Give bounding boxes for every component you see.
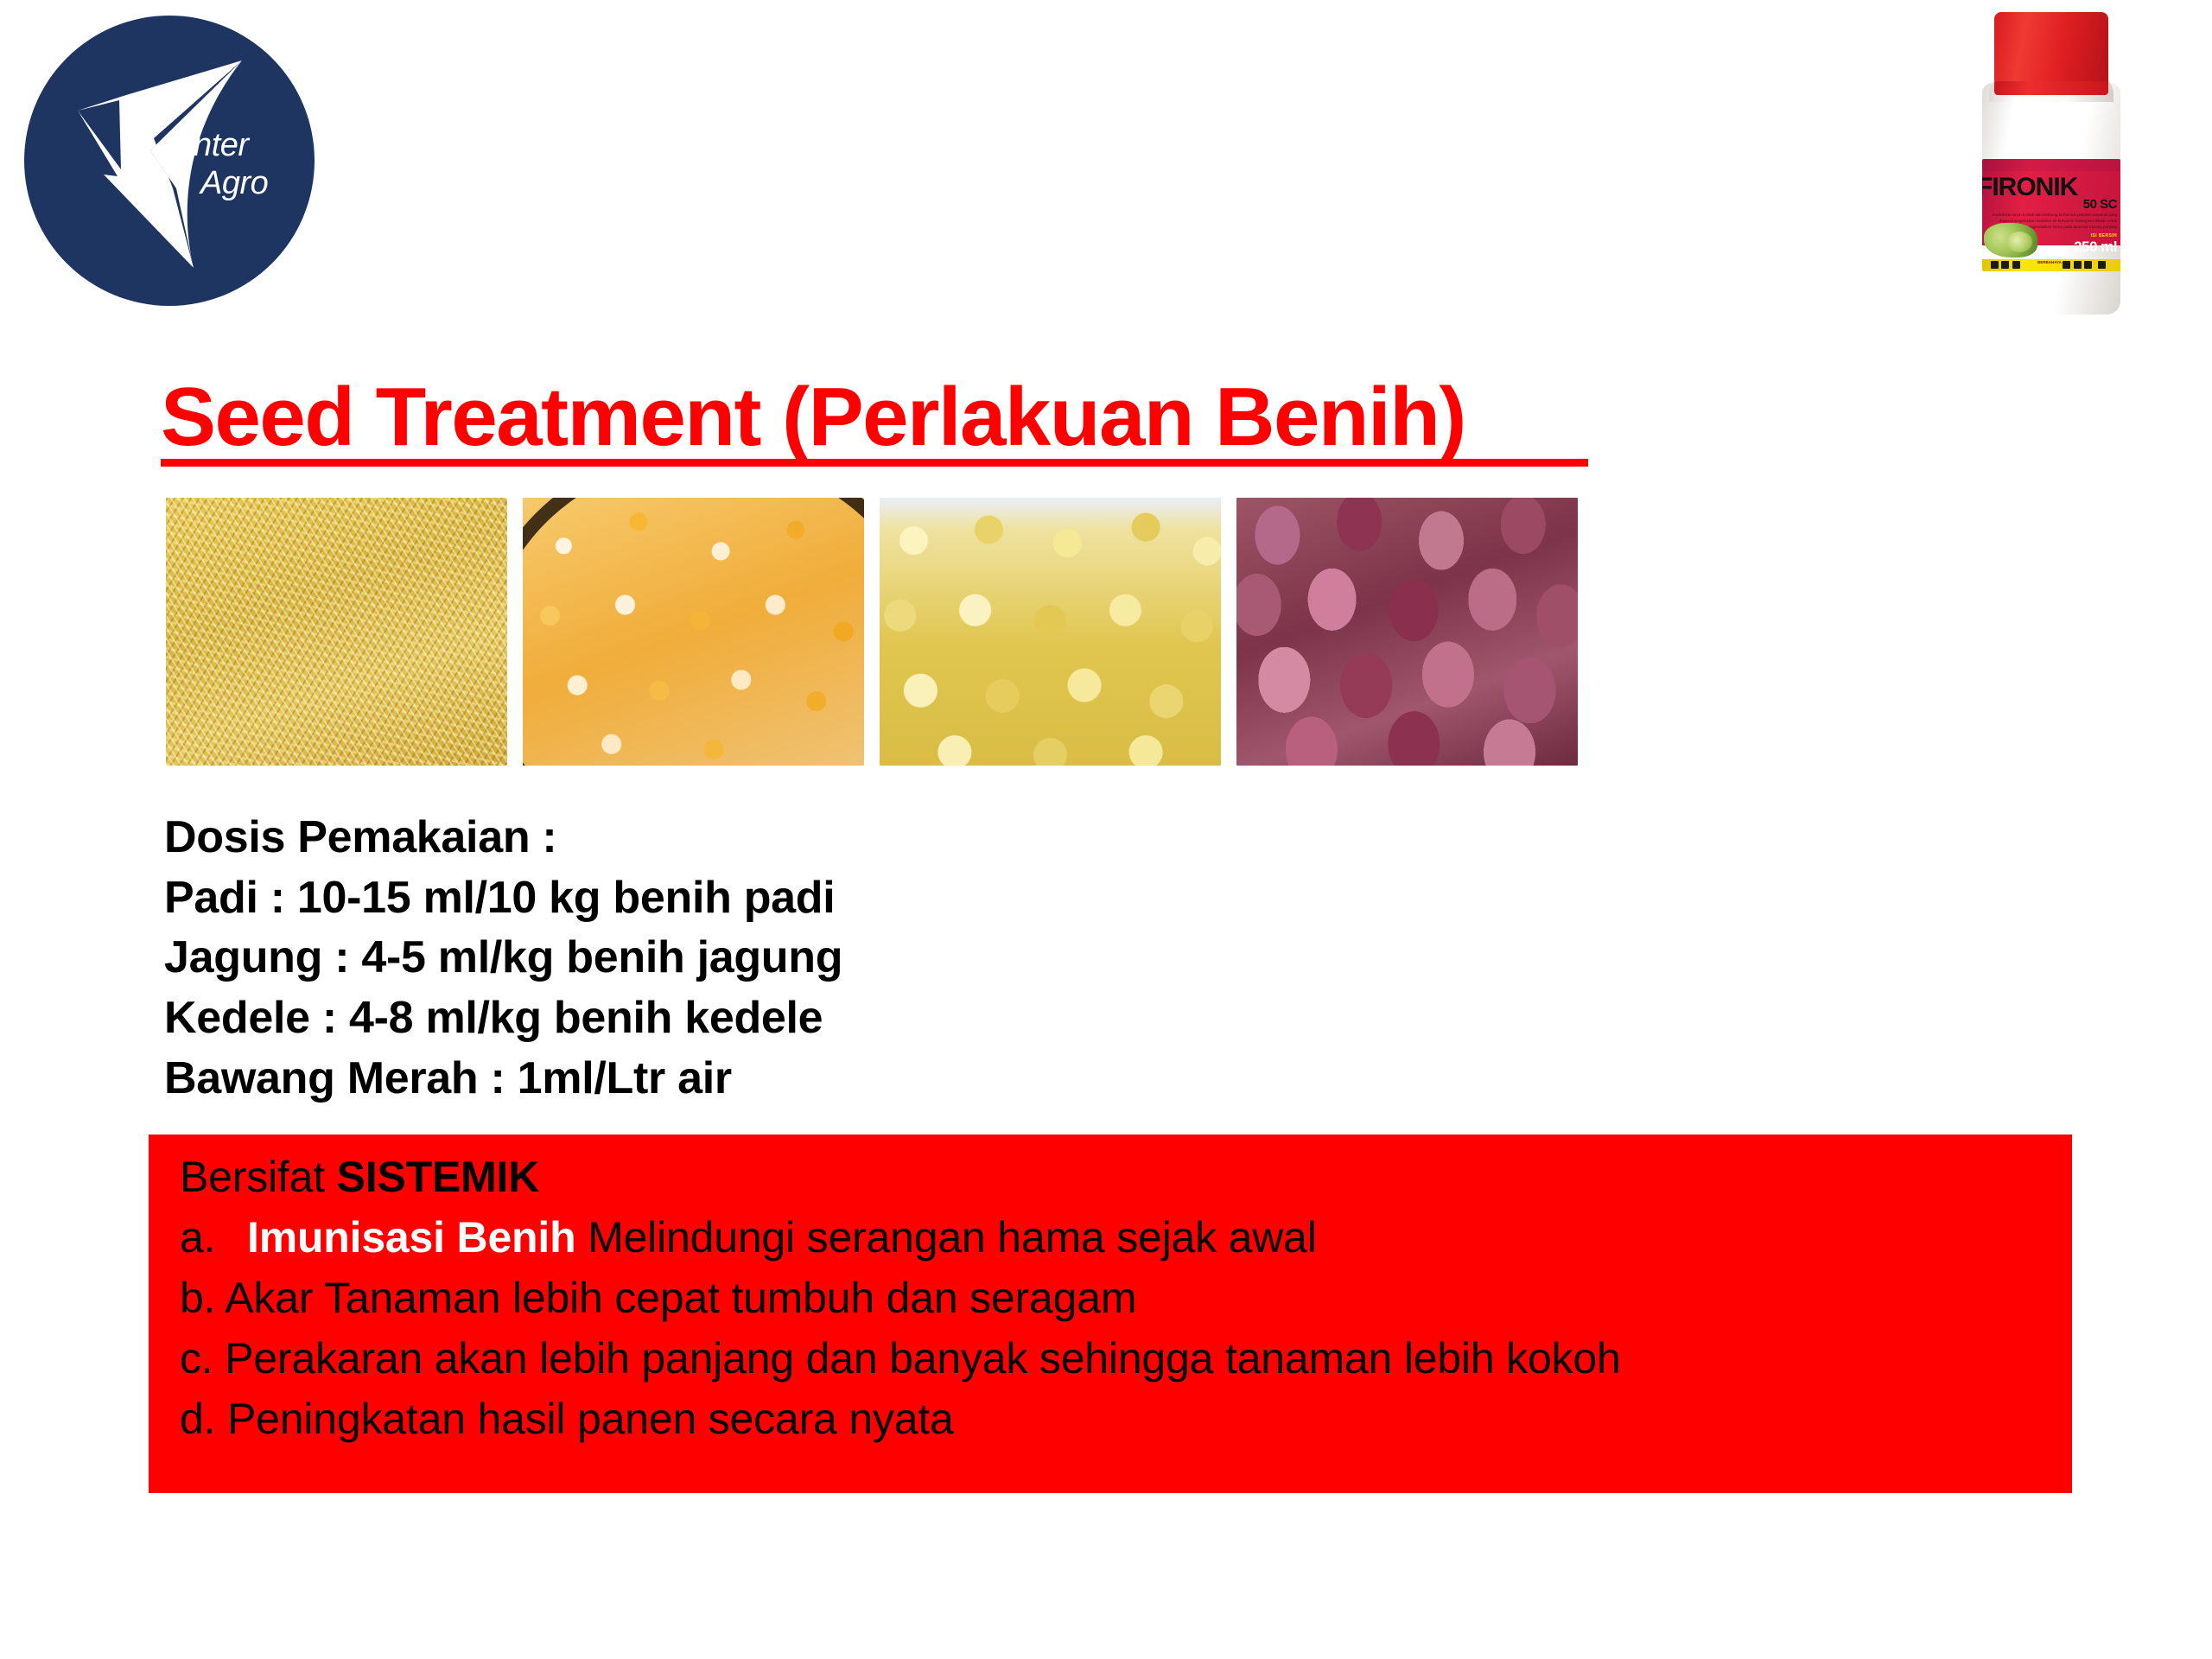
- label-volume-value: 250 ml: [2074, 238, 2117, 255]
- callout-header-bold: SISTEMIK: [337, 1153, 540, 1201]
- soybean-seeds-image: [880, 498, 1221, 766]
- callout-item-c-marker: c.: [180, 1328, 213, 1389]
- seed-image-strip: [166, 498, 1578, 766]
- rice-paddy-seeds-image: [166, 498, 507, 766]
- systemic-benefits-callout: Bersifat SISTEMIK a.Imunisasi Benih Meli…: [149, 1135, 2072, 1493]
- page-title: Seed Treatment (Perlakuan Benih): [161, 370, 1465, 465]
- callout-item-b-marker: b.: [180, 1268, 215, 1328]
- label-concentration: 50 SC: [2083, 197, 2117, 212]
- dosage-line-bawang: Bawang Merah : 1ml/Ltr air: [164, 1049, 842, 1109]
- label-vegetable-illustration: [1984, 223, 2037, 257]
- callout-item-b: b. Akar Tanaman lebih cepat tumbuh dan s…: [180, 1268, 2072, 1328]
- callout-item-a: a.Imunisasi Benih Melindungi serangan ha…: [180, 1207, 2072, 1268]
- callout-item-a-marker: a.: [180, 1207, 247, 1268]
- logo-wordmark: Inter Agro: [185, 126, 315, 203]
- callout-item-d-text: Peningkatan hasil panen secara nyata: [215, 1395, 953, 1443]
- page-title-underline: [161, 459, 1588, 467]
- logo-circle-background: Inter Agro: [24, 16, 315, 306]
- callout-item-c-text: Perakaran akan lebih panjang dan banyak …: [213, 1334, 1621, 1382]
- dosage-line-kedele: Kedele : 4-8 ml/kg benih kedele: [164, 988, 842, 1049]
- red-shallot-bulbs-image: [1236, 498, 1578, 766]
- callout-item-a-bold: Imunisasi Benih: [247, 1213, 575, 1262]
- label-top-band: [1982, 159, 2120, 171]
- dosage-line-padi: Padi : 10-15 ml/10 kg benih padi: [164, 868, 842, 929]
- callout-item-d-marker: d.: [180, 1389, 215, 1449]
- dosage-heading: Dosis Pemakaian :: [164, 808, 842, 868]
- callout-header-prefix: Bersifat: [180, 1153, 337, 1201]
- corn-kernels-image: [523, 498, 864, 766]
- fironik-bottle-image: FIRONIK 50 SC Insektisida racun kontak d…: [1963, 12, 2140, 315]
- dosage-line-jagung: Jagung : 4-5 ml/kg benih jagung: [164, 928, 842, 988]
- logo-word-agro: Agro: [185, 164, 315, 202]
- label-volume: ISI BERSIH 250 ml: [2074, 233, 2117, 256]
- callout-item-a-text: Melindungi serangan hama sejak awal: [575, 1213, 1316, 1262]
- label-brand-name: FIRONIK: [1982, 173, 2077, 202]
- bottle-cap: [1994, 12, 2108, 88]
- dosage-block: Dosis Pemakaian : Padi : 10-15 ml/10 kg …: [164, 808, 842, 1109]
- label-bottom-strip: BERBAHAYA: [1982, 259, 2120, 271]
- callout-item-c: c. Perakaran akan lebih panjang dan bany…: [180, 1328, 2072, 1389]
- inter-agro-logo: Inter Agro: [24, 16, 315, 306]
- bottle-label: FIRONIK 50 SC Insektisida racun kontak d…: [1982, 159, 2120, 271]
- label-hazard-seal: BERBAHAYA: [2037, 260, 2062, 264]
- callout-item-d: d. Peningkatan hasil panen secara nyata: [180, 1389, 2072, 1449]
- callout-header: Bersifat SISTEMIK: [180, 1147, 2072, 1207]
- logo-word-inter: Inter: [185, 127, 249, 163]
- callout-item-b-text: Akar Tanaman lebih cepat tumbuh dan sera…: [215, 1274, 1136, 1322]
